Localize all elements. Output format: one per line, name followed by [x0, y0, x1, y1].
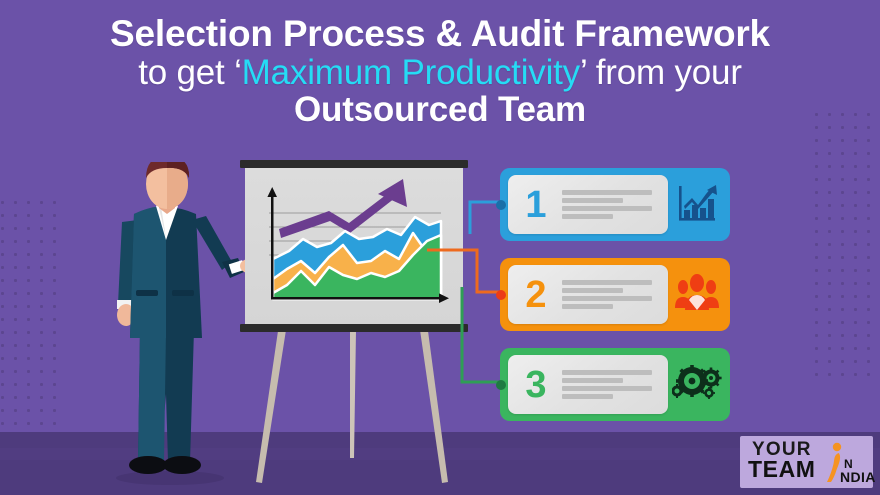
step-card-2-text-lines	[562, 277, 668, 313]
team-group-icon	[670, 267, 724, 321]
title-line-1: Selection Process & Audit Framework	[0, 14, 880, 54]
step-card-1-body: 1	[508, 175, 668, 234]
text-line	[562, 304, 613, 309]
bar-chart-growth-icon	[670, 177, 724, 231]
step-card-3-body: 3	[508, 355, 668, 414]
brand-logo[interactable]: YOUR TEAM N NDIA	[740, 436, 873, 488]
title-line-2: to get ‘Maximum Productivity’ from your	[0, 54, 880, 91]
step-card-1-text-lines	[562, 187, 668, 223]
text-line	[562, 288, 623, 293]
whiteboard-frame	[238, 158, 470, 336]
text-line	[562, 190, 652, 195]
connector-dot-3	[496, 380, 506, 390]
board-top-bar	[240, 160, 468, 168]
dot-pattern-left	[0, 196, 62, 448]
step-card-3[interactable]: 3	[500, 348, 730, 421]
text-line	[562, 370, 652, 375]
text-line	[562, 206, 652, 211]
text-line	[562, 394, 613, 399]
step-card-1[interactable]: 1	[500, 168, 730, 241]
whiteboard-surface	[245, 167, 463, 325]
dot-pattern-right	[810, 108, 880, 376]
step-card-1-number: 1	[510, 186, 562, 224]
businessman-presenter	[104, 162, 254, 492]
step-card-3-text-lines	[562, 367, 668, 403]
board-bottom-bar	[240, 324, 468, 332]
title-line-2-prefix: to get ‘	[138, 53, 241, 92]
text-line	[562, 386, 652, 391]
text-line	[562, 198, 623, 203]
easel-legs	[238, 330, 470, 490]
title-line-2-suffix: ’ from your	[580, 53, 742, 92]
gears-settings-icon	[670, 357, 724, 411]
title-line-3: Outsourced Team	[0, 91, 880, 128]
connector-dot-1	[496, 200, 506, 210]
infographic-canvas: Selection Process & Audit Framework to g…	[0, 0, 880, 495]
logo-word-ndia: NDIA	[840, 470, 876, 484]
connector-dot-2	[496, 290, 506, 300]
step-card-2-number: 2	[510, 276, 562, 314]
step-card-2-body: 2	[508, 265, 668, 324]
step-card-3-number: 3	[510, 366, 562, 404]
page-title: Selection Process & Audit Framework to g…	[0, 14, 880, 128]
area-chart-graphic	[245, 167, 463, 325]
text-line	[562, 296, 652, 301]
title-accent-text: Maximum Productivity	[242, 53, 580, 92]
step-card-2[interactable]: 2	[500, 258, 730, 331]
text-line	[562, 214, 613, 219]
text-line	[562, 280, 652, 285]
text-line	[562, 378, 623, 383]
logo-word-team: TEAM	[748, 458, 816, 481]
presentation-easel	[238, 158, 470, 492]
